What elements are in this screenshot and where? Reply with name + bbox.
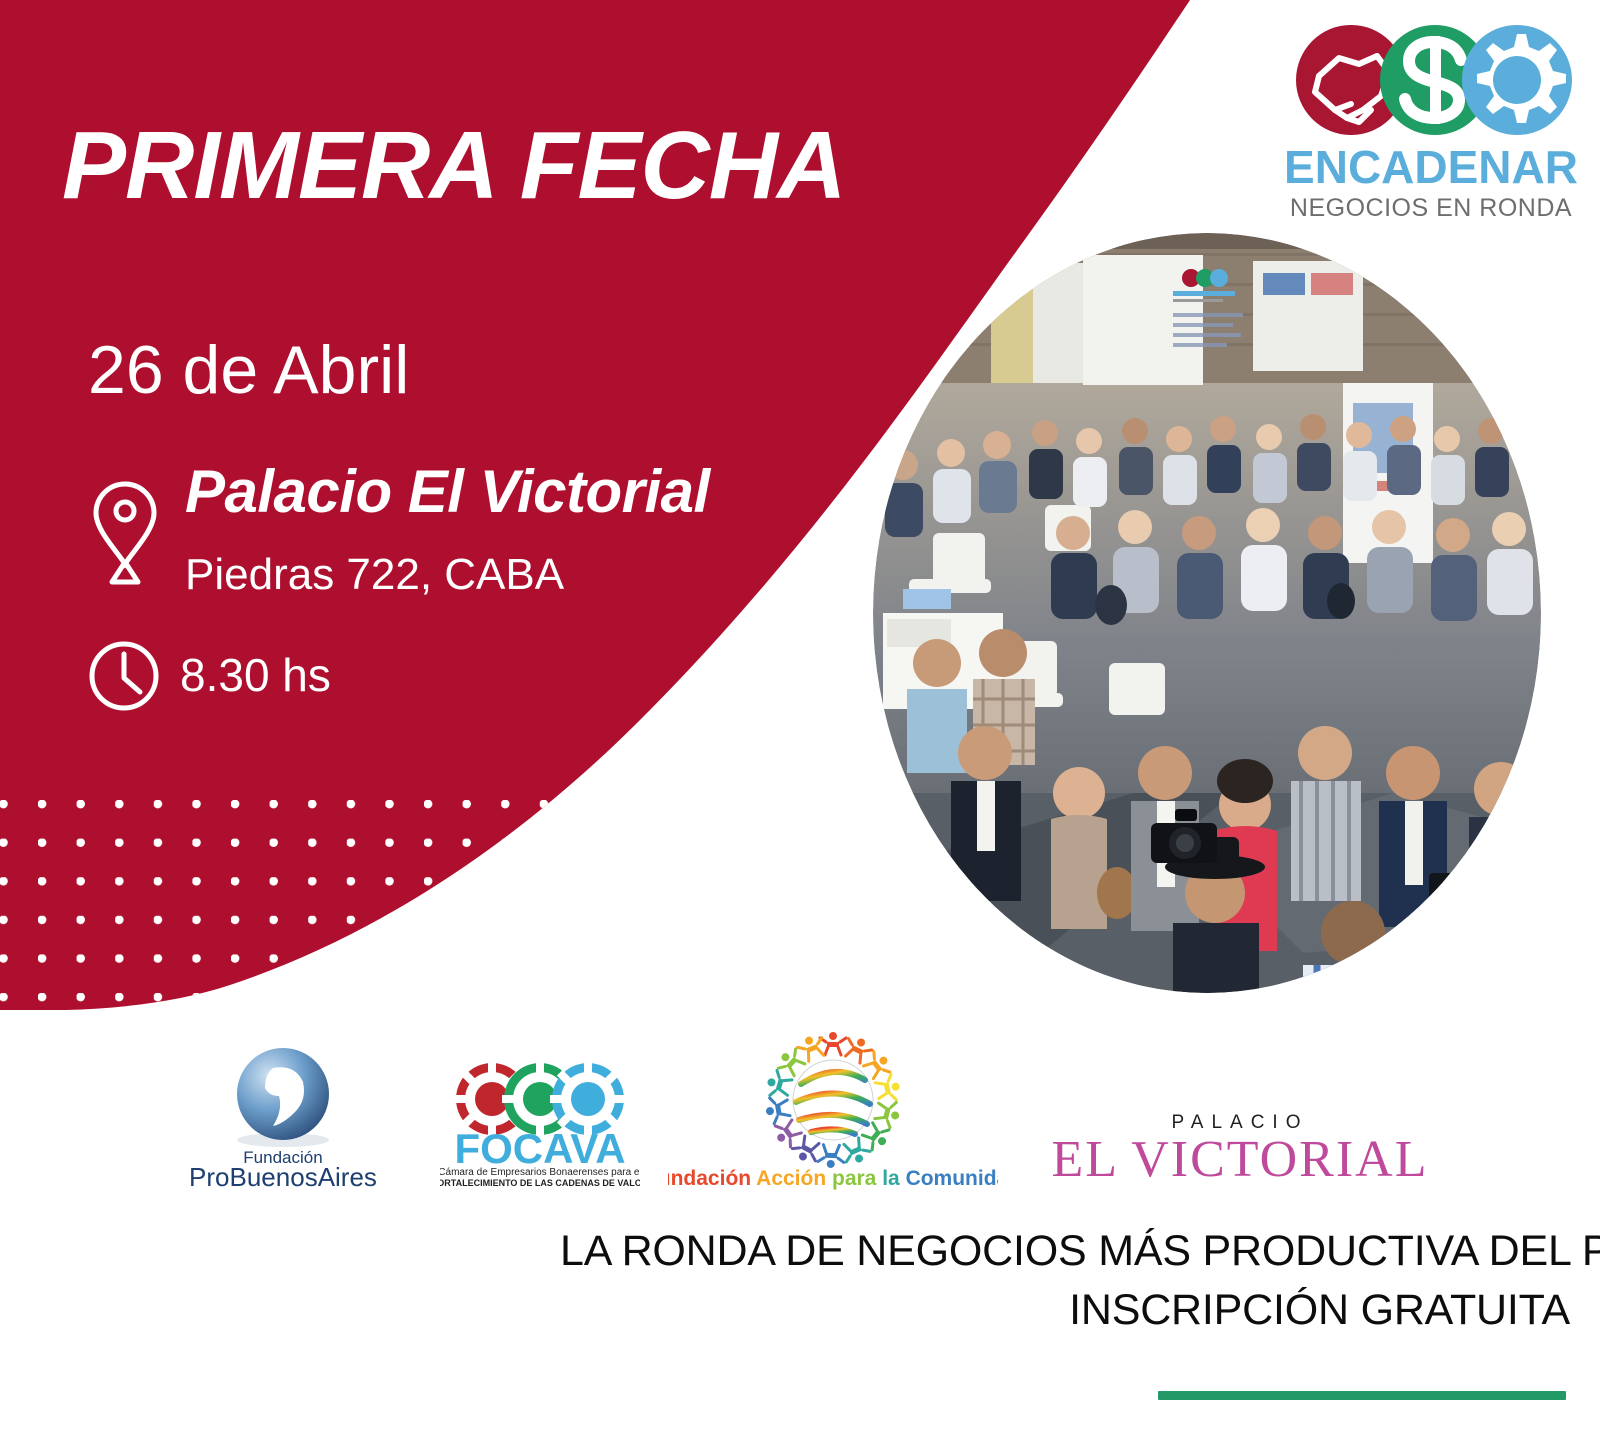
event-photo: RONDA MULTISECTORIAL bbox=[873, 233, 1541, 993]
sponsor-logo-palacio-el-victorial: PALACIO EL VICTORIAL bbox=[1040, 1104, 1440, 1186]
sponsor-pba-line2: ProBuenosAires bbox=[189, 1162, 377, 1192]
event-date: 26 de Abril bbox=[88, 336, 409, 404]
map-pin-icon bbox=[90, 478, 160, 588]
footer-tagline: LA RONDA DE NEGOCIOS MÁS PRODUCTIVA DEL … bbox=[560, 1222, 1570, 1341]
event-time: 8.30 hs bbox=[180, 652, 331, 698]
globe-people-icon bbox=[764, 1032, 902, 1168]
sponsor-logo-fundacion-accion: Fundación Acción para la Comunidad bbox=[668, 1022, 998, 1194]
victorial-line1: PALACIO bbox=[1172, 1112, 1309, 1133]
tagline-line-2: INSCRIPCIÓN GRATUITA bbox=[560, 1281, 1570, 1340]
sponsor-fapc-name: Fundación Acción para la Comunidad bbox=[668, 1167, 998, 1190]
tagline-line-1: LA RONDA DE NEGOCIOS MÁS PRODUCTIVA DEL … bbox=[560, 1222, 1570, 1281]
sponsor-focava-sub1: Cámara de Empresarios Bonaerenses para e… bbox=[440, 1167, 640, 1178]
sponsor-logo-pro-buenos-aires: Fundación ProBuenosAires bbox=[168, 1032, 398, 1192]
page-title: PRIMERA FECHA bbox=[62, 118, 845, 214]
photo-circle-mask bbox=[873, 233, 1541, 993]
sponsor-logo-focava: FOCAVA Cámara de Empresarios Bonaerenses… bbox=[440, 1057, 640, 1189]
encadenar-wordmark: ENCADENAR bbox=[1285, 141, 1577, 193]
venue-address: Piedras 722, CABA bbox=[185, 553, 564, 597]
flyer-canvas: PRIMERA FECHA 26 de Abril Palacio El Vic… bbox=[0, 0, 1600, 1454]
encadenar-sub-wordmark: NEGOCIOS EN RONDA bbox=[1290, 194, 1572, 222]
encadenar-logo: ENCADENAR NEGOCIOS EN RONDA bbox=[1285, 18, 1577, 223]
clock-icon bbox=[88, 640, 160, 712]
sponsor-focava-name: FOCAVA bbox=[454, 1125, 625, 1172]
victorial-line2: EL VICTORIAL bbox=[1052, 1131, 1429, 1186]
venue-name: Palacio El Victorial bbox=[185, 462, 710, 522]
sponsor-focava-sub2: FORTALECIMIENTO DE LAS CADENAS DE VALOR bbox=[440, 1178, 640, 1188]
green-accent-bar bbox=[1158, 1391, 1566, 1400]
